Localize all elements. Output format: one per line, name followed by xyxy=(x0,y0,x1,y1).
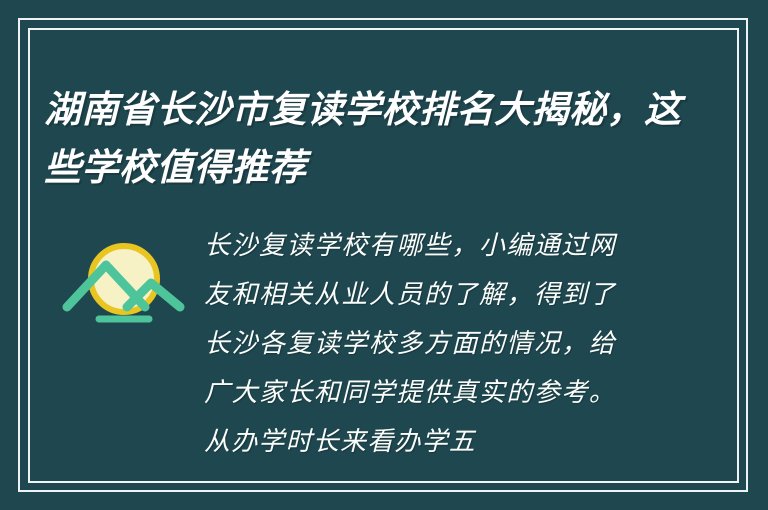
mountain-sun-icon xyxy=(61,238,187,324)
article-content: 长沙复读学校有哪些，小编通过网友和相关从业人员的了解，得到了长沙各复读学校多方面… xyxy=(44,196,708,493)
article-poster: 湖南省长沙市复读学校排名大揭秘，这些学校值得推荐 长沙复读学校有哪些，小编通过网… xyxy=(0,0,768,510)
article-body: 长沙复读学校有哪些，小编通过网友和相关从业人员的了解，得到了长沙各复读学校多方面… xyxy=(204,222,616,467)
logo-container xyxy=(44,196,204,324)
page-title: 湖南省长沙市复读学校排名大揭秘，这些学校值得推荐 xyxy=(44,81,684,197)
